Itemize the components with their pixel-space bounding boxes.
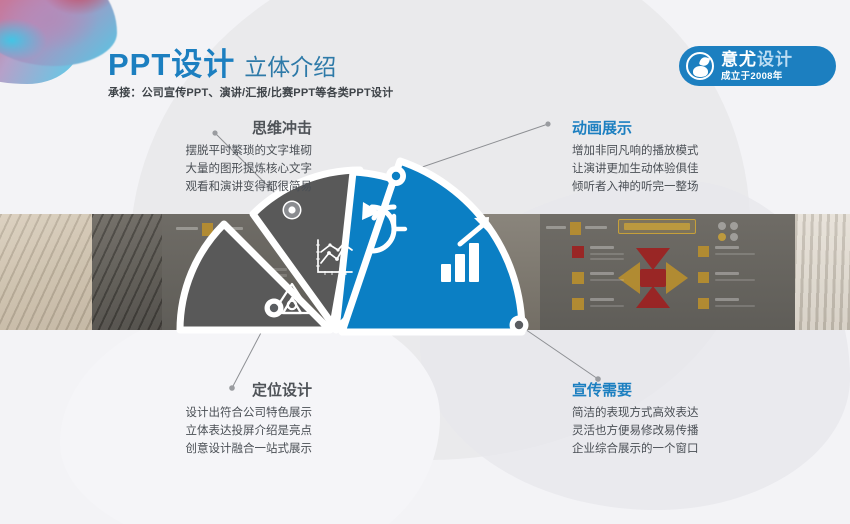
info-block-bottom-left: 定位设计 设计出符合公司特色展示 立体表达投屏介绍是亮点 创意设计融合一站式展示 [72, 382, 312, 458]
info-title-top-left: 思维冲击 [72, 120, 312, 138]
info-line: 增加非同凡响的播放模式 [572, 143, 812, 161]
info-body-top-right: 增加非同凡响的播放模式 让演讲更加生动体验俱佳 倾听者入神的听完一整场 [572, 143, 812, 196]
info-body-top-left: 摆脱平时繁琐的文字堆砌 大量的图形提炼核心文字 观看和演讲变得都很简易 [72, 143, 312, 196]
info-line: 立体表达投屏介绍是亮点 [72, 423, 312, 441]
slide-canvas: PPT设计立体介绍 承接：公司宣传PPT、演讲/汇报/比赛PPT等各类PPT设计… [0, 0, 850, 524]
info-line: 创意设计融合一站式展示 [72, 441, 312, 459]
connector-bottom-right [519, 325, 598, 379]
info-body-bottom-right: 简洁的表现方式高效表达 灵活也方便易修改易传播 企业综合展示的一个窗口 [572, 405, 812, 458]
info-title-bottom-right: 宣传需要 [572, 382, 812, 400]
info-line: 观看和演讲变得都很简易 [72, 179, 312, 197]
endpoint-bottom-right [595, 376, 601, 382]
info-line: 大量的图形提炼核心文字 [72, 161, 312, 179]
info-block-top-left: 思维冲击 摆脱平时繁琐的文字堆砌 大量的图形提炼核心文字 观看和演讲变得都很简易 [72, 120, 312, 196]
info-body-bottom-left: 设计出符合公司特色展示 立体表达投屏介绍是亮点 创意设计融合一站式展示 [72, 405, 312, 458]
node-top-right[interactable] [386, 166, 406, 186]
info-block-top-right: 动画展示 增加非同凡响的播放模式 让演讲更加生动体验俱佳 倾听者入神的听完一整场 [572, 120, 812, 196]
node-bottom-left[interactable] [265, 299, 284, 318]
node-top-left[interactable] [283, 201, 302, 220]
info-block-bottom-right: 宣传需要 简洁的表现方式高效表达 灵活也方便易修改易传播 企业综合展示的一个窗口 [572, 382, 812, 458]
endpoint-top-right [545, 121, 550, 126]
info-line: 企业综合展示的一个窗口 [572, 441, 812, 459]
info-line: 摆脱平时繁琐的文字堆砌 [72, 143, 312, 161]
info-line: 让演讲更加生动体验俱佳 [572, 161, 812, 179]
info-title-bottom-left: 定位设计 [72, 382, 312, 400]
info-line: 倾听者入神的听完一整场 [572, 179, 812, 197]
node-bottom-right[interactable] [510, 316, 529, 335]
info-line: 设计出符合公司特色展示 [72, 405, 312, 423]
info-title-top-right: 动画展示 [572, 120, 812, 138]
info-line: 简洁的表现方式高效表达 [572, 405, 812, 423]
info-line: 灵活也方便易修改易传播 [572, 423, 812, 441]
